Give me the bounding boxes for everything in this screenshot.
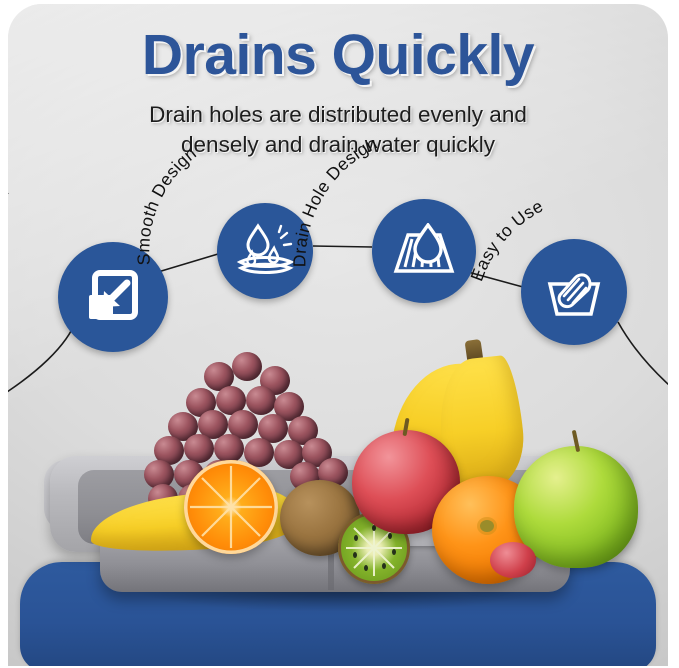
feature-circle-drain-hole-design[interactable]: Drain Hole Design xyxy=(372,199,476,303)
fruit-apple-small xyxy=(490,542,536,578)
card-background: Drains Quickly Drain holes are distribut… xyxy=(8,4,668,666)
product-feature-card: Drains Quickly Drain holes are distribut… xyxy=(0,0,679,668)
feature-circle-easy-to-use[interactable]: Easy to Use xyxy=(521,239,627,345)
water-drop-ripple-icon xyxy=(234,222,296,280)
product-photo xyxy=(8,334,668,634)
feature-circle-smooth-design[interactable]: Smooth Design xyxy=(217,203,313,299)
drain-grate-drop-icon xyxy=(392,223,456,279)
fruit-orange-half xyxy=(184,460,278,554)
resize-arrow-icon xyxy=(81,265,145,329)
hand-wash-basin-icon xyxy=(542,262,606,322)
